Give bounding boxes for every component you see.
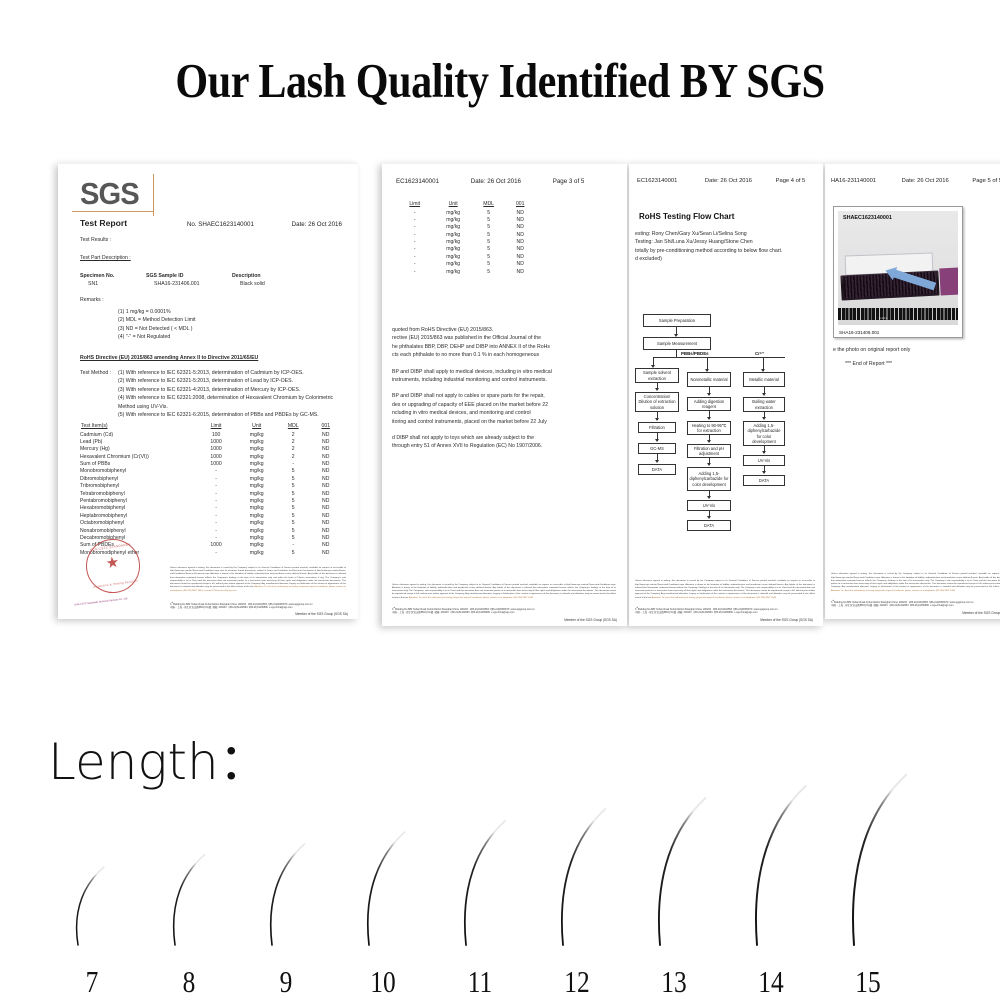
flow-box-metallic-material: Metallic material: [743, 372, 785, 387]
cell-value: -: [196, 505, 237, 512]
cell-value: -: [196, 550, 237, 557]
cell-value: 5: [473, 217, 505, 224]
note-line: des or upgrading of capacity of EEE plac…: [392, 401, 614, 409]
table-row: Nonabromobiphenyl-mg/kg5ND: [80, 528, 342, 535]
cell-value: 2: [277, 439, 309, 446]
lash-size-label: 12: [552, 964, 601, 1000]
cell-value: -: [196, 468, 237, 475]
page-indicator: Page 4 of 5: [776, 178, 806, 184]
flow-box-adding-digestion-reagent: Adding digestion reagent: [687, 397, 731, 411]
lash-item: 9: [256, 748, 316, 1000]
cell-value: 5: [277, 498, 309, 505]
flow-arrow: [762, 417, 766, 420]
lash-curve: [159, 852, 229, 948]
lash-size-label: 9: [261, 964, 310, 1000]
cell-value: ND: [504, 217, 536, 224]
page-indicator: Page 5 of 5: [972, 178, 1000, 184]
remarks-list: (1) 1 mg/kg = 0.0001% (2) MDL = Method D…: [118, 308, 196, 342]
certificate-page-2[interactable]: SGS Test Report No. SHAEC1623140001 Date…: [58, 163, 358, 619]
flow-arrow: [707, 440, 711, 443]
cell-value: 2: [277, 446, 309, 453]
cell-value: -: [396, 246, 433, 253]
flow-arrow: [707, 496, 711, 499]
specimen-header-2: Description: [232, 272, 261, 280]
table-row: -mg/kg5ND: [396, 224, 536, 231]
cell-value: ND: [309, 483, 342, 490]
cell-value: mg/kg: [433, 269, 472, 276]
table-row: Cadmium (Cd)100mg/kg2ND: [80, 432, 342, 439]
method-item: (2) With reference to IEC 62321-5:2013, …: [118, 377, 356, 385]
lash-item: 14: [741, 748, 801, 1000]
method-item: (4) With reference to IEC 62321:2008, de…: [118, 394, 356, 402]
note-line: itoring and control instruments, placed …: [392, 418, 614, 426]
lash-curve: [547, 806, 617, 948]
footer-fineprint: Unless otherwise agreed in writing, this…: [635, 580, 815, 600]
table-row: Dibromobiphenyl-mg/kg5ND: [80, 476, 342, 483]
note-line: [392, 426, 614, 434]
photo-caption: SHA16-231406.001: [839, 330, 879, 335]
lash-size-label: 8: [164, 964, 213, 1000]
footer-contact: 3rdBuilding,No.889 Yishan Road Xuhui Dis…: [170, 602, 346, 609]
cell-value: 5: [277, 535, 309, 542]
doc-header-line: HA16-231140001 Date: 26 Oct 2016 Page 5 …: [831, 178, 997, 184]
footer-contact: 3rdBuilding,No.889 Yishan Road Xuhui Dis…: [635, 607, 815, 614]
table-row: -mg/kg5ND: [396, 254, 536, 261]
stamp-arc-bottom: Inspection & Testing Services: [89, 578, 141, 589]
cell-value: mg/kg: [236, 498, 277, 505]
note-line: cts each phthalate to no more than 0.1 %…: [392, 351, 614, 359]
lash-size-label: 13: [649, 964, 698, 1000]
cell-value: ND: [504, 269, 536, 276]
flow-box-data-c: DATA: [743, 475, 785, 486]
cell-value: ND: [504, 224, 536, 231]
note-line: rective (EU) 2015/863 was published in t…: [392, 334, 614, 342]
cell-value: 5: [277, 550, 309, 557]
flow-note-line: esting: Rony Chen/Gary Xu/Sean Li/Selina…: [635, 230, 819, 238]
cell-value: 5: [277, 491, 309, 498]
remark-item: (3) ND = Not Detected ( < MDL ): [118, 325, 196, 333]
lash-curve: [62, 864, 132, 948]
flow-chart-title: RoHS Testing Flow Chart: [639, 212, 734, 221]
cell-value: ND: [309, 432, 342, 439]
specimen-table: Specimen No. SGS Sample ID Description S…: [80, 272, 330, 289]
flow-box-uv-vis-b: UV-Vis: [687, 500, 731, 511]
flow-chart: Sample Preparation Sample Measurement PB…: [635, 314, 823, 564]
table-row: Tribromobiphenyl-mg/kg5ND: [80, 483, 342, 490]
cell-value: ND: [504, 210, 536, 217]
flow-box-boiling-water-extraction: Boiling water extraction: [743, 397, 785, 412]
cell-value: 5: [473, 239, 505, 246]
lash-item: 12: [547, 748, 607, 1000]
member-note: Member of the SGS Group (SGS SA): [962, 611, 1000, 615]
table-row: Pentabromobiphenyl-mg/kg5ND: [80, 498, 342, 505]
note-line: d DIBP shall not apply to toys which are…: [392, 434, 614, 442]
cell-value: 100: [196, 432, 237, 439]
footer-contact: 3rdBuilding,No.889 Yishan Road Xuhui Dis…: [392, 607, 616, 614]
test-part-description-label: Test Part Description :: [80, 254, 131, 262]
test-method-list: (1) With reference to IEC 62321-5:2013, …: [118, 369, 356, 419]
cell-value: 1000: [196, 446, 237, 453]
doc-header-line: EC1623140001 Date: 26 Oct 2016 Page 3 of…: [396, 178, 607, 185]
flow-box-sample-solvent-extraction: Sample solvent extraction: [635, 368, 679, 383]
cell-value: 5: [473, 232, 505, 239]
cell-value: 5: [473, 224, 505, 231]
cell-value: mg/kg: [433, 210, 472, 217]
lash-curve: [741, 783, 811, 948]
cell-value: mg/kg: [236, 483, 277, 490]
remark-item: (2) MDL = Method Detection Limit: [118, 316, 196, 324]
lash-size-label: 15: [843, 964, 892, 1000]
lash-size-label: 14: [746, 964, 795, 1000]
star-icon: ★: [105, 555, 120, 572]
sgs-logo-hline: [72, 211, 154, 212]
method-item: (1) With reference to IEC 62321-5:2013, …: [118, 369, 356, 377]
cell-value: 5: [473, 246, 505, 253]
ruler-label: 0-10 k: [879, 316, 887, 320]
cell-value: 1000: [196, 454, 237, 461]
table-row: -mg/kg5ND: [396, 210, 536, 217]
table-header-row: Limit Unit MDL 001: [396, 200, 536, 210]
cell-value: ND: [309, 439, 342, 446]
cell-value: mg/kg: [433, 246, 472, 253]
table-row: -mg/kg5ND: [396, 217, 536, 224]
cell-value: mg/kg: [236, 535, 277, 542]
cell-value: ND: [309, 476, 342, 483]
table-row: Hexabromobiphenyl-mg/kg5ND: [80, 505, 342, 512]
cell-value: mg/kg: [236, 454, 277, 461]
flow-arrow: [655, 460, 659, 463]
cell-value: -: [277, 461, 309, 468]
table-row: Lead (Pb)1000mg/kg2ND: [80, 439, 342, 446]
flow-chart-notes: esting: Rony Chen/Gary Xu/Sean Li/Selina…: [635, 230, 819, 264]
page-indicator: Page 3 of 5: [553, 178, 585, 185]
flow-box-adding-carbazide-b: Adding 1,5-diphenylcarbazide for color d…: [687, 467, 731, 491]
col-header-001: 001: [504, 200, 536, 210]
cell-value: 1000: [196, 461, 237, 468]
certificate-page-5[interactable]: HA16-231140001 Date: 26 Oct 2016 Page 5 …: [825, 163, 1000, 619]
flow-arrow: [707, 463, 711, 466]
cell-value: -: [196, 528, 237, 535]
table-header-row: Test Item(s) Limit Unit MDL 001: [80, 422, 342, 432]
cell-value: ND: [309, 520, 342, 527]
flow-branch-label-pbbs: PBBs/PBDEs: [681, 351, 709, 356]
cell-value: 1000: [196, 439, 237, 446]
cell-value: ND: [309, 498, 342, 505]
cell-value: 5: [473, 261, 505, 268]
flow-note-line: Testing: Jan Shi/Luna Xu/Jessy Huang/Sto…: [635, 238, 819, 246]
table-row: Tetrabromobiphenyl-mg/kg5ND: [80, 491, 342, 498]
cell-value: mg/kg: [236, 528, 277, 535]
cell-value: -: [196, 498, 237, 505]
flow-arrow: [655, 418, 659, 421]
flow-box-concentration-dilution: Concentration/ Dilution of extraction so…: [635, 392, 679, 412]
cell-test-item: Octabromobiphenyl: [80, 520, 196, 527]
doc-header-line: Test Report No. SHAEC1623140001 Date: 26…: [80, 218, 346, 228]
lash-item: 13: [644, 748, 704, 1000]
cell-value: ND: [309, 446, 342, 453]
flow-arrow: [707, 516, 711, 519]
cell-value: ND: [309, 505, 342, 512]
stamp-tail-text: SGS-CSTC Standards Technical Services Co…: [74, 592, 166, 607]
cell-value: -: [396, 269, 433, 276]
tray-end-cap: [939, 268, 958, 296]
cell-value: -: [396, 261, 433, 268]
footer-fineprint: Unless otherwise agreed in writing, this…: [831, 573, 1000, 593]
note-line: he phthalates BBP, DBP, DEHP and DIBP in…: [392, 343, 614, 351]
lash-curve: [838, 772, 908, 948]
cell-value: mg/kg: [433, 217, 472, 224]
flow-box-data-b: DATA: [687, 520, 731, 531]
cell-value: ND: [309, 468, 342, 475]
table-row: Octabromobiphenyl-mg/kg5ND: [80, 520, 342, 527]
method-item: Method using UV-Vis.: [118, 403, 356, 411]
col-header-unit: Unit: [433, 200, 472, 210]
col-header-mdl: MDL: [277, 422, 309, 432]
cell-value: mg/kg: [236, 461, 277, 468]
certificate-page-3[interactable]: EC1623140001 Date: 26 Oct 2016 Page 3 of…: [382, 163, 627, 626]
specimen-value-1: SHA16-231406.001: [154, 280, 240, 288]
cell-value: 5: [277, 468, 309, 475]
member-note: Member of the SGS Group (SGS SA): [295, 612, 348, 616]
certificate-page-4[interactable]: EC1623140001 Date: 26 Oct 2016 Page 4 of…: [629, 163, 823, 626]
flow-bus: [653, 357, 785, 358]
report-date: Date: 26 Oct 2016: [705, 178, 752, 184]
cell-test-item: Hexabromobiphenyl: [80, 505, 196, 512]
footer-fineprint: Unless otherwise agreed in writing, this…: [170, 567, 346, 593]
lash-item: 15: [838, 748, 898, 1000]
cell-test-item: Hexavalent Chromium (Cr(VI)): [80, 454, 196, 461]
cell-value: 5: [473, 210, 505, 217]
cell-value: mg/kg: [433, 261, 472, 268]
cell-value: -: [196, 476, 237, 483]
note-line: quoted from RoHS Directive (EU) 2015/863…: [392, 326, 614, 334]
col-header-limit: Limit: [396, 200, 433, 210]
specimen-header-1: SGS Sample ID: [146, 272, 232, 280]
cell-value: ND: [504, 254, 536, 261]
cell-value: ND: [309, 454, 342, 461]
sgs-logo-text: SGS: [80, 178, 153, 210]
report-date: Date: 26 Oct 2016: [292, 221, 342, 228]
cell-value: -: [196, 535, 237, 542]
cell-value: -: [277, 542, 309, 549]
table-row: Heptabromobiphenyl-mg/kg5ND: [80, 513, 342, 520]
table-row: Monobromobiphenyl-mg/kg5ND: [80, 468, 342, 475]
cell-value: ND: [504, 232, 536, 239]
cell-value: ND: [309, 461, 342, 468]
col-header-mdl: MDL: [473, 200, 505, 210]
cell-value: -: [396, 224, 433, 231]
cell-value: ND: [504, 246, 536, 253]
cell-test-item: Pentabromobiphenyl: [80, 498, 196, 505]
cell-test-item: Nonabromobiphenyl: [80, 528, 196, 535]
photo-label: SHAEC1623140001: [843, 215, 892, 221]
table-row: -mg/kg5ND: [396, 232, 536, 239]
table-row: -mg/kg5ND: [396, 246, 536, 253]
cell-test-item: Dibromobiphenyl: [80, 476, 196, 483]
table-row: -mg/kg5ND: [396, 261, 536, 268]
footer-fineprint: Unless otherwise agreed in writing, this…: [392, 584, 616, 600]
cell-value: mg/kg: [236, 520, 277, 527]
cell-value: mg/kg: [236, 432, 277, 439]
cell-value: -: [396, 210, 433, 217]
cell-value: -: [396, 254, 433, 261]
report-number: EC1623140001: [396, 178, 439, 185]
cell-value: mg/kg: [236, 439, 277, 446]
cell-value: ND: [309, 513, 342, 520]
cell-test-item: Mercury (Hg): [80, 446, 196, 453]
flow-arrow: [707, 417, 711, 420]
cell-value: 1000: [196, 542, 237, 549]
specimen-header-0: Specimen No.: [80, 272, 146, 280]
flow-box-filtration: Filtration: [638, 422, 676, 433]
flow-box-nonmetallic-material: Nonmetallic material: [687, 372, 731, 387]
flow-box-gc-ms: GC-MS: [638, 443, 676, 454]
doc-header-line: EC1623140001 Date: 26 Oct 2016 Page 4 of…: [637, 178, 797, 184]
cell-value: 5: [277, 513, 309, 520]
cell-test-item: Decabromobiphenyl: [80, 535, 196, 542]
col-header-unit: Unit: [236, 422, 277, 432]
cell-value: -: [396, 232, 433, 239]
lash-curve: [256, 841, 326, 948]
photo-note: e the photo on original report only: [833, 346, 910, 354]
note-line: through entry 51 of Annex XVII to Regula…: [392, 442, 614, 450]
cell-value: -: [196, 520, 237, 527]
cell-value: 2: [277, 454, 309, 461]
lash-size-label: 7: [67, 964, 116, 1000]
note-line: [392, 360, 614, 368]
cell-test-item: Tribromobiphenyl: [80, 483, 196, 490]
cell-value: mg/kg: [236, 468, 277, 475]
col-header-item: Test Item(s): [80, 422, 196, 432]
cell-value: ND: [309, 542, 342, 549]
flow-box-sample-measurement: Sample Measurement: [643, 337, 711, 350]
cell-value: ND: [309, 491, 342, 498]
cell-value: 5: [473, 269, 505, 276]
flow-arrow: [707, 393, 711, 396]
note-line: [392, 384, 614, 392]
lash-curve: [450, 818, 520, 948]
cell-value: mg/kg: [433, 239, 472, 246]
specimen-value-2: Black solid: [240, 280, 265, 288]
cell-test-item: Cadmium (Cd): [80, 432, 196, 439]
table-row: Mercury (Hg)1000mg/kg2ND: [80, 446, 342, 453]
ruler-ticks: [838, 308, 958, 321]
cell-value: mg/kg: [236, 550, 277, 557]
flow-arrow: [762, 471, 766, 474]
results-table: Limit Unit MDL 001 -mg/kg5ND-mg/kg5ND-mg…: [396, 200, 536, 276]
cell-value: mg/kg: [236, 476, 277, 483]
cell-value: 2: [277, 432, 309, 439]
lash-item: 8: [159, 748, 219, 1000]
table-row: Sum of PBBs1000mg/kg-ND: [80, 461, 342, 468]
member-note: Member of the SGS Group (SGS SA): [564, 618, 617, 622]
cell-value: ND: [309, 550, 342, 557]
flow-box-filtration-ph: Filtration and pH adjustment: [687, 444, 731, 458]
note-line: ncluding in vitro medical devices, and m…: [392, 409, 614, 417]
cell-value: mg/kg: [236, 491, 277, 498]
cell-value: mg/kg: [236, 542, 277, 549]
cell-value: mg/kg: [236, 446, 277, 453]
report-number: HA16-231140001: [831, 178, 876, 184]
flow-arrow: [655, 439, 659, 442]
flow-arrow: [762, 393, 766, 396]
cell-value: ND: [504, 261, 536, 268]
cell-value: -: [396, 239, 433, 246]
flow-note-line: totally by pre-conditioning method accor…: [635, 247, 819, 255]
flow-arrow: [762, 451, 766, 454]
cell-value: mg/kg: [433, 254, 472, 261]
lash-curve: [644, 795, 714, 948]
flow-box-adding-carbazide-c: Adding 1,5-diphenylcarbazide for color d…: [743, 421, 785, 446]
report-number: EC1623140001: [637, 178, 677, 184]
cell-value: mg/kg: [433, 232, 472, 239]
remark-item: (4) "-" = Not Regulated: [118, 333, 196, 341]
col-header-001: 001: [309, 422, 342, 432]
remark-item: (1) 1 mg/kg = 0.0001%: [118, 308, 196, 316]
lash-item: 10: [353, 748, 413, 1000]
doc-title: Test Report: [80, 218, 127, 228]
footer-contact: 3rdBuilding,No.889 Yishan Road Xuhui Dis…: [831, 600, 1000, 607]
cell-value: 5: [277, 505, 309, 512]
table-row: -mg/kg5ND: [396, 239, 536, 246]
report-date: Date: 26 Oct 2016: [471, 178, 521, 185]
cell-value: -: [196, 483, 237, 490]
lash-item: 11: [450, 748, 510, 1000]
lash-size-label: 11: [455, 964, 504, 1000]
flow-box-data-a: DATA: [638, 464, 676, 475]
method-item: (5) With reference to IEC 62321-6:2015, …: [118, 411, 356, 419]
lash-size-label: 10: [358, 964, 407, 1000]
cell-value: 5: [277, 476, 309, 483]
flow-box-heating-extraction: Heating to 90-95℃ for extraction: [687, 421, 731, 435]
table-row: -mg/kg5ND: [396, 269, 536, 276]
cell-value: mg/kg: [236, 505, 277, 512]
note-line: instruments, including industrial monito…: [392, 376, 614, 384]
results-table: Test Item(s) Limit Unit MDL 001 Cadmium …: [80, 422, 342, 557]
flow-box-sample-preparation: Sample Preparation: [643, 314, 711, 327]
cell-value: -: [196, 513, 237, 520]
cell-value: 5: [277, 528, 309, 535]
certificates-gallery: SGS Test Report No. SHAEC1623140001 Date…: [58, 163, 966, 633]
test-results-label: Test Results :: [80, 236, 111, 244]
test-method-label: Test Method :: [80, 369, 111, 377]
flow-box-uv-vis-c: UV-Vis: [743, 455, 785, 466]
cell-test-item: Heptabromobiphenyl: [80, 513, 196, 520]
member-note: Member of the SGS Group (SGS SA): [760, 618, 813, 622]
cell-test-item: Sum of PBBs: [80, 461, 196, 468]
cell-value: mg/kg: [236, 513, 277, 520]
cell-test-item: Monobromobiphenyl: [80, 468, 196, 475]
end-of-report-note: *** End of Report ***: [845, 360, 892, 368]
flow-arrow: [655, 388, 659, 391]
cell-value: ND: [309, 535, 342, 542]
report-number: No. SHAEC1623140001: [187, 221, 254, 228]
ruler: 0-10 k: [838, 308, 958, 321]
sample-photo-frame[interactable]: SHAEC1623140001 0-10 k SHA16-231406.001: [833, 206, 963, 338]
cell-value: ND: [504, 239, 536, 246]
method-item: (3) With reference to IEC 62321-4:2013, …: [118, 386, 356, 394]
remarks-label: Remarks :: [80, 296, 104, 304]
lash-curve: [353, 829, 423, 948]
cell-value: 5: [473, 254, 505, 261]
cell-value: -: [196, 491, 237, 498]
cell-value: -: [396, 217, 433, 224]
sgs-logo-vline: [153, 174, 154, 216]
notes-block: quoted from RoHS Directive (EU) 2015/863…: [392, 326, 614, 451]
lash-length-chart: 789101112131415: [0, 748, 1000, 1000]
flow-connector: [676, 350, 677, 357]
cell-value: mg/kg: [433, 224, 472, 231]
